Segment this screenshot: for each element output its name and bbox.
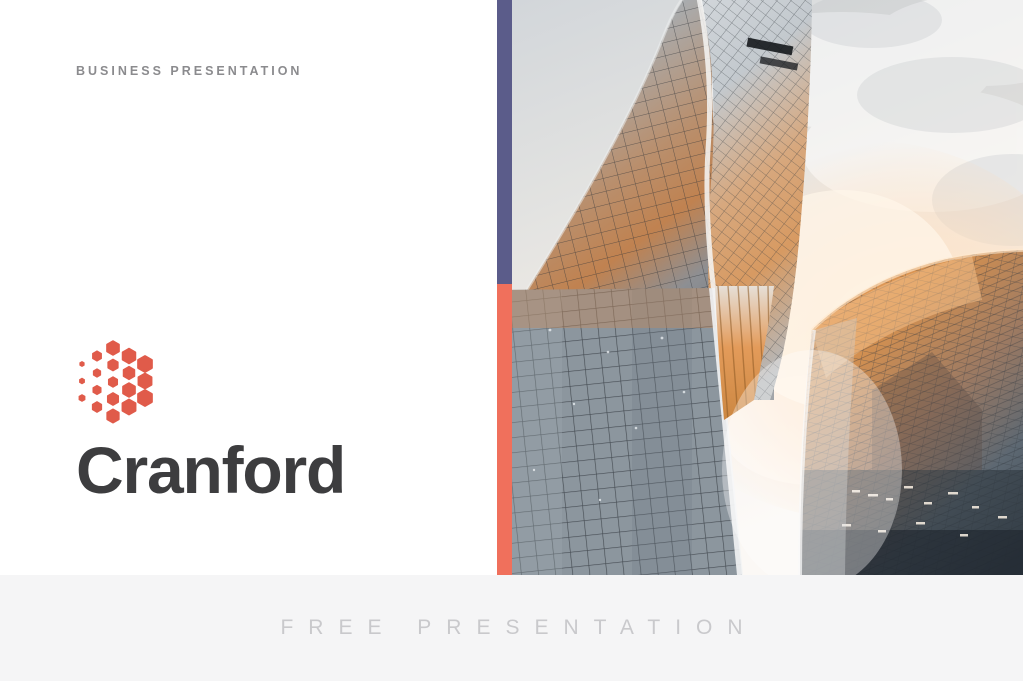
skyscraper-photo-illustration [512, 0, 1023, 575]
skyscraper-photo [512, 0, 1023, 575]
accent-bar-top-segment [497, 0, 512, 284]
brand-wordmark: Cranford [76, 437, 345, 503]
presentation-slide: BUSINESS PRESENTATION [0, 0, 1023, 681]
accent-bar-bottom-segment [497, 284, 512, 575]
vertical-accent-bar [497, 0, 512, 575]
logo-block [76, 336, 172, 428]
slide-eyebrow-label: BUSINESS PRESENTATION [76, 64, 302, 78]
footer-label: FREE PRESENTATION [0, 575, 1023, 681]
hexagon-cluster-logo-icon [76, 336, 172, 428]
slide-footer-band: FREE PRESENTATION [0, 575, 1023, 681]
left-content-panel: BUSINESS PRESENTATION [0, 0, 497, 575]
